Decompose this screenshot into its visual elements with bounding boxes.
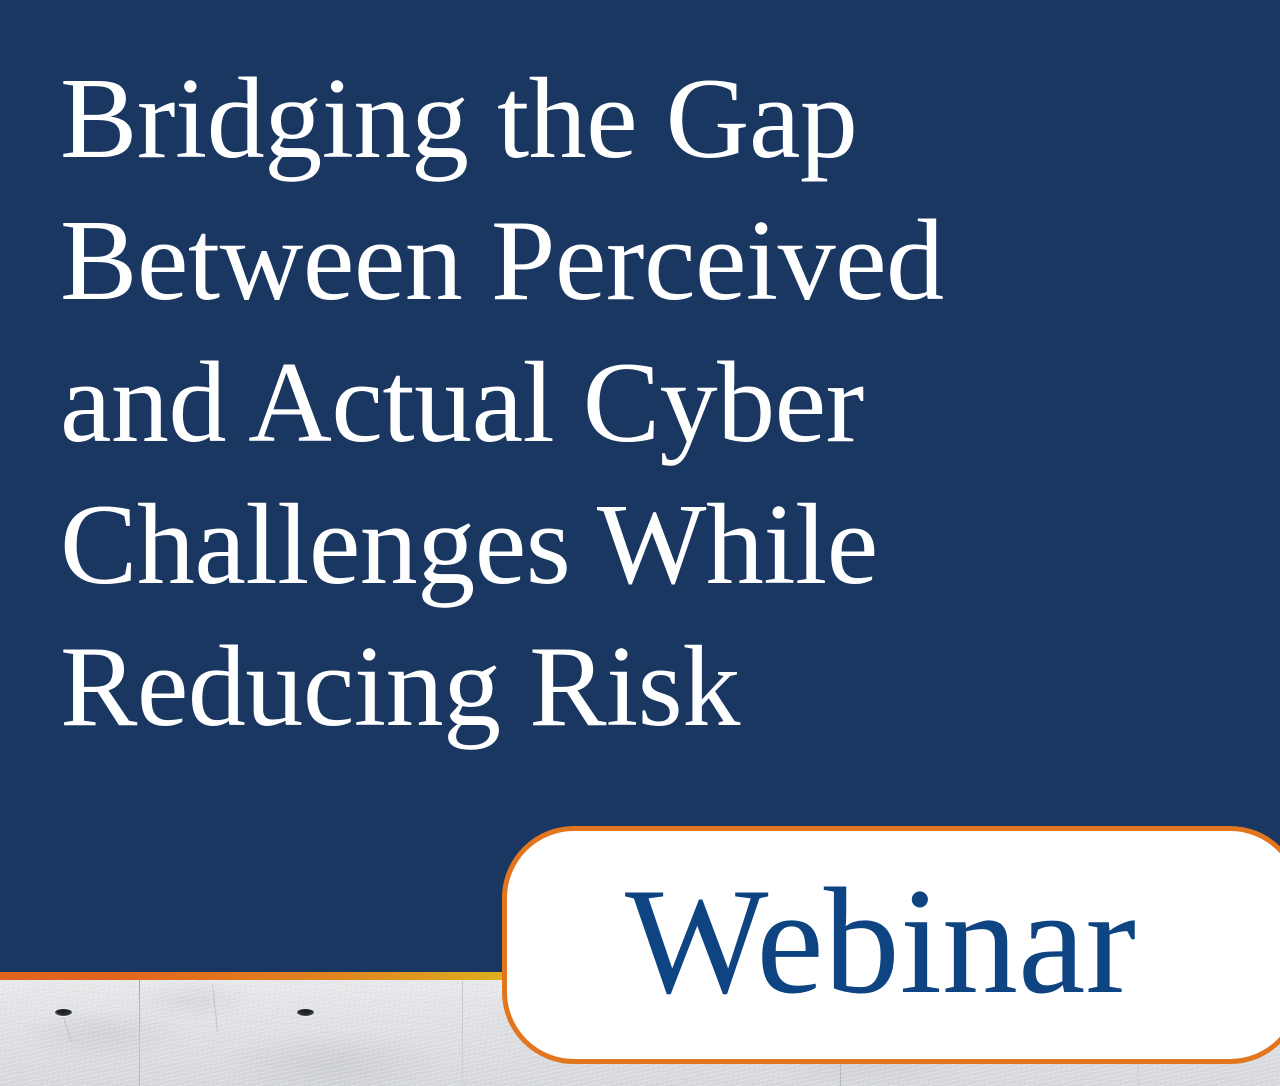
title-line-3: and Actual Cyber <box>60 332 1180 474</box>
title-line-5: Reducing Risk <box>60 616 1180 758</box>
concrete-tie-hole <box>297 1009 314 1016</box>
page-title: Bridging the Gap Between Perceived and A… <box>60 48 1180 758</box>
title-line-2: Between Perceived <box>60 190 1180 332</box>
concrete-scratch <box>63 1017 72 1042</box>
webinar-badge: Webinar <box>502 826 1280 1064</box>
concrete-seam <box>139 972 140 1086</box>
title-line-1: Bridging the Gap <box>60 48 1180 190</box>
webinar-badge-label: Webinar <box>507 865 1136 1017</box>
concrete-tie-hole <box>55 1009 72 1016</box>
concrete-scratch <box>212 984 218 1032</box>
concrete-seam <box>462 972 463 1086</box>
slide-canvas: Bridging the Gap Between Perceived and A… <box>0 0 1280 1086</box>
title-line-4: Challenges While <box>60 474 1180 616</box>
